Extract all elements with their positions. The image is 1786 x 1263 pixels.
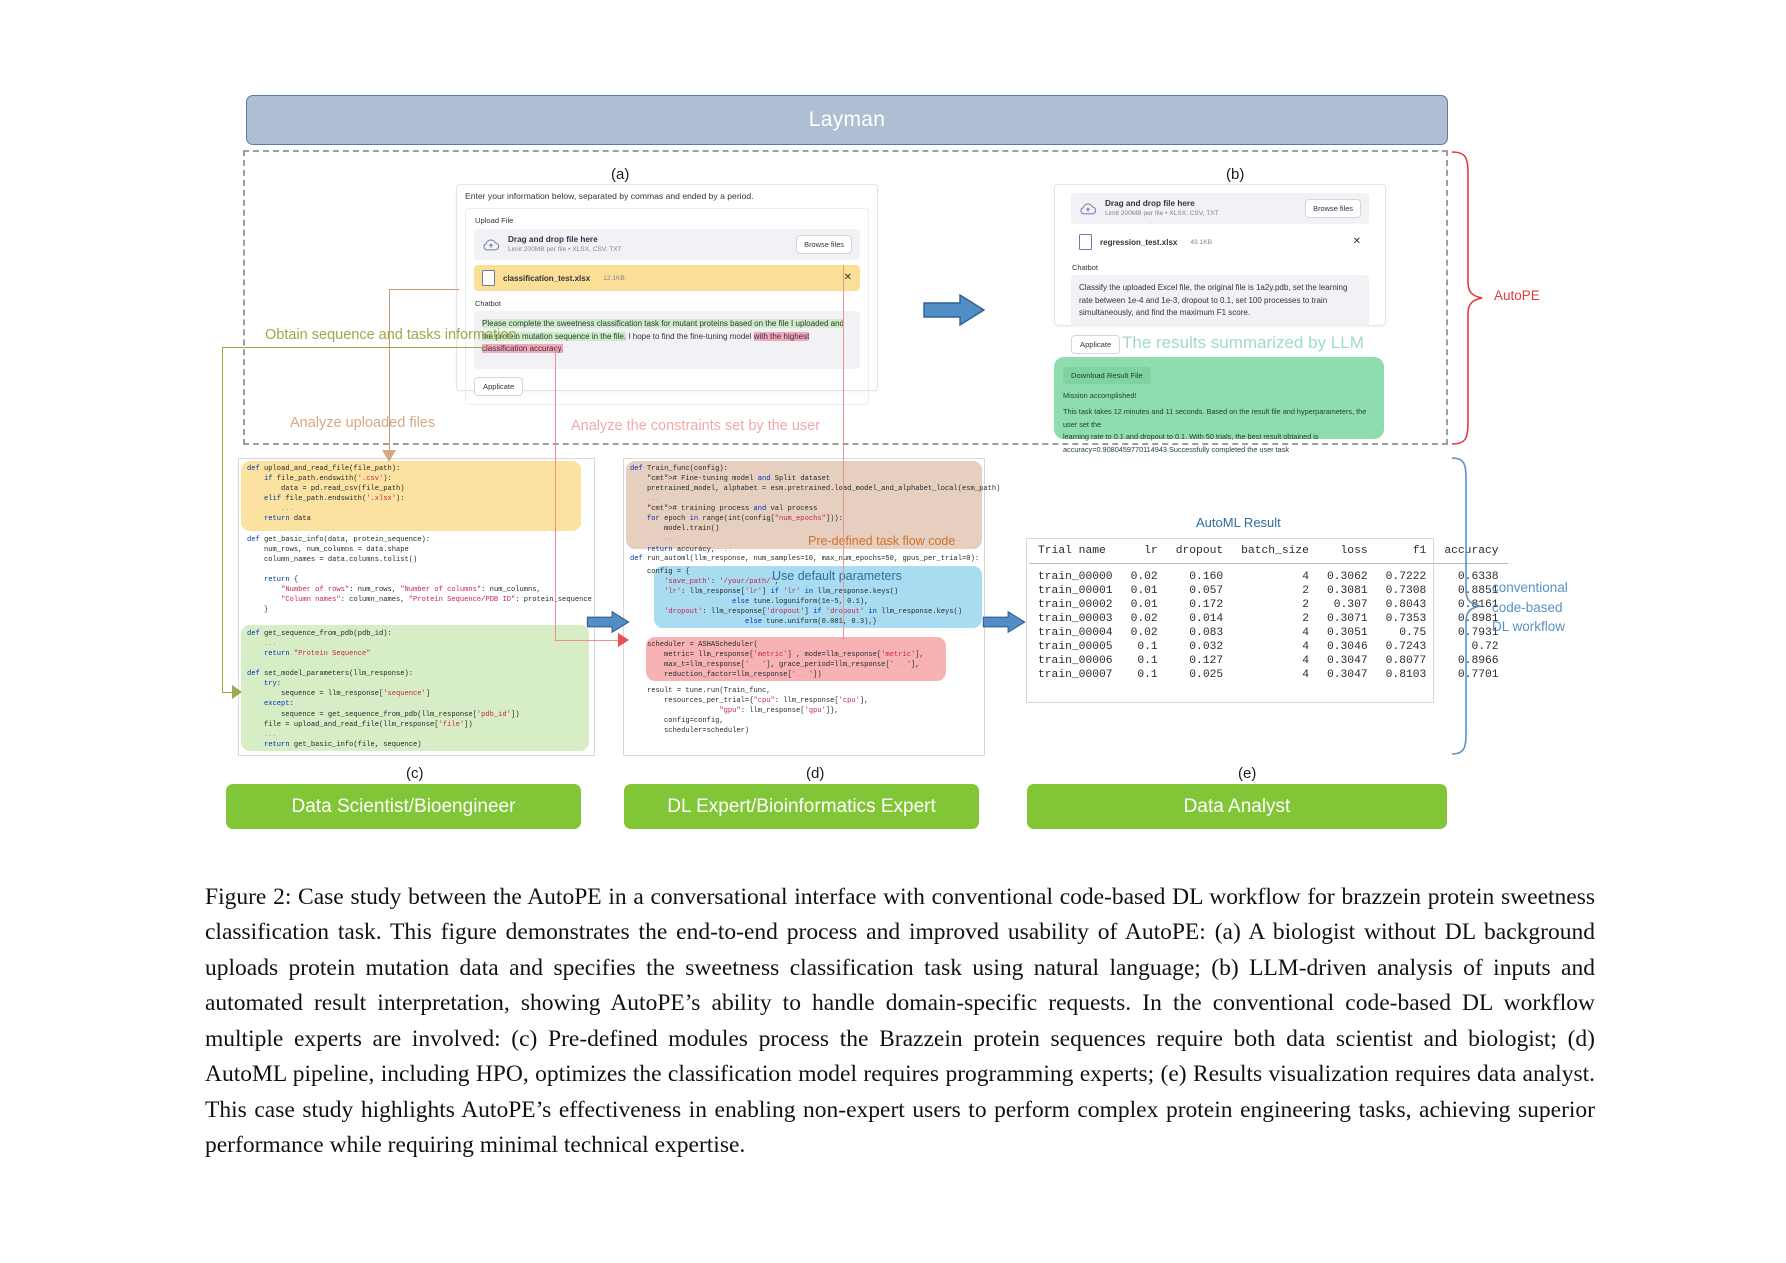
autope-bracket <box>1446 150 1486 446</box>
panel-a-chat-seg2: I hope to find the fine-tuning model <box>626 332 754 341</box>
col-dropout: dropout <box>1167 543 1232 564</box>
panel-letter-d: (d) <box>806 765 824 782</box>
table-cell: 0.1 <box>1122 640 1167 654</box>
table-cell: 0.3047 <box>1318 654 1377 668</box>
col-batch-size: batch_size <box>1232 543 1318 564</box>
table-row: train_000000.020.16040.30620.72220.6338 <box>1029 564 1508 585</box>
table-row: train_000020.010.17220.3070.80430.8161 <box>1029 598 1508 612</box>
role-bar-label-e: Data Analyst <box>1184 796 1291 818</box>
table-cell: 0.025 <box>1167 668 1232 686</box>
layman-role-bar: Layman <box>246 95 1448 145</box>
panel-a-chat-input[interactable]: Please complete the sweetness classifica… <box>474 311 860 369</box>
table-cell: 0.3047 <box>1318 668 1377 686</box>
dropzone-texts: Drag and drop file here Limit 200MB per … <box>508 235 788 254</box>
table-cell: 0.057 <box>1167 584 1232 598</box>
panel-a-uploaded-file-row[interactable]: classification_test.xlsx 12.1KB ✕ <box>474 265 860 291</box>
browse-files-button[interactable]: Browse files <box>1305 199 1361 218</box>
table-cell: 0.172 <box>1167 598 1232 612</box>
flow-arrow-d-to-e <box>982 608 1026 641</box>
panel-c-code-3: def get_sequence_from_pdb(pdb_id): ... r… <box>247 629 519 750</box>
panel-a-file-name: classification_test.xlsx <box>503 274 590 283</box>
annotation-obtain-sequence: Obtain sequence and tasks information <box>265 327 516 343</box>
role-bar-data-analyst: Data Analyst <box>1027 784 1447 829</box>
panel-b-dropzone[interactable]: Drag and drop file here Limit 200MB per … <box>1071 193 1369 224</box>
table-cell: 0.01 <box>1122 584 1167 598</box>
table-row: train_000060.10.12740.30470.80770.8966 <box>1029 654 1508 668</box>
panel-b-uploaded-file-row[interactable]: regression_test.xlsx 43.1KB ✕ <box>1071 229 1369 255</box>
connector-rose-vert <box>555 345 556 640</box>
table-cell: 4 <box>1232 640 1318 654</box>
connector-olive-vert <box>222 347 223 692</box>
role-bar-dl-expert: DL Expert/Bioinformatics Expert <box>624 784 979 829</box>
connector-tan-top <box>389 289 459 290</box>
llm-summary-watermark: The results summarized by LLM <box>1122 333 1364 353</box>
table-cell: 0.3071 <box>1318 612 1377 626</box>
panel-b-llm-result-bubble: Download Result File Mission accomplishe… <box>1054 357 1384 439</box>
table-cell: train_00001 <box>1029 584 1122 598</box>
panel-letter-b: (b) <box>1226 166 1244 183</box>
default-params-annotation: Use default parameters <box>772 569 902 583</box>
table-cell: 0.014 <box>1167 612 1232 626</box>
panel-a-chatbot-label: Chatbot <box>475 299 860 308</box>
table-cell: train_00000 <box>1029 564 1122 585</box>
connector-tan-arrowhead <box>382 450 396 462</box>
panel-b-chat-input[interactable]: Classify the uploaded Excel file, the or… <box>1071 275 1369 326</box>
panel-a-applicate-button[interactable]: Applicate <box>474 377 523 396</box>
table-cell: 0.3062 <box>1318 564 1377 585</box>
figure-caption: Figure 2: Case study between the AutoPE … <box>205 880 1595 1164</box>
table-cell: train_00006 <box>1029 654 1122 668</box>
automl-result-table-box: Trial name lr dropout batch_size loss f1… <box>1026 538 1434 703</box>
dropzone-subtitle: Limit 200MB per file • XLSX, CSV, TXT <box>1105 209 1297 218</box>
table-row: train_000070.10.02540.30470.81030.7701 <box>1029 668 1508 686</box>
table-cell: 2 <box>1232 584 1318 598</box>
panel-c-code-2: def get_basic_info(data, protein_sequenc… <box>247 535 592 616</box>
connector-olive-arrowhead <box>232 685 246 699</box>
table-cell: 0.1 <box>1122 668 1167 686</box>
layman-label: Layman <box>809 108 886 132</box>
table-cell: 2 <box>1232 598 1318 612</box>
panel-b-file-size: 43.1KB <box>1190 239 1212 246</box>
table-cell: 0.160 <box>1167 564 1232 585</box>
table-cell: 0.02 <box>1122 564 1167 585</box>
table-cell: 0.7353 <box>1377 612 1436 626</box>
table-cell: 4 <box>1232 564 1318 585</box>
panel-c-code-1: def upload_and_read_file(file_path): if … <box>247 464 405 524</box>
dropzone-title: Drag and drop file here <box>1105 199 1297 209</box>
table-row: train_000040.020.08340.30510.750.7931 <box>1029 626 1508 640</box>
panel-d-code-5: result = tune.run(Train_func, resources_… <box>630 686 868 736</box>
table-cell: 4 <box>1232 668 1318 686</box>
table-cell: train_00005 <box>1029 640 1122 654</box>
annotation-analyze-files: Analyze uploaded files <box>290 415 435 431</box>
file-icon <box>482 270 495 286</box>
flow-arrow-a-to-b <box>922 293 986 332</box>
panel-d-code-2: def run_automl(llm_response, num_samples… <box>630 554 979 564</box>
table-header-row: Trial name lr dropout batch_size loss f1… <box>1029 543 1508 564</box>
table-cell: 0.3081 <box>1318 584 1377 598</box>
table-cell: 0.3051 <box>1318 626 1377 640</box>
col-trial-name: Trial name <box>1029 543 1122 564</box>
panel-a-file-size: 12.1KB <box>603 275 625 282</box>
automl-result-table: Trial name lr dropout batch_size loss f1… <box>1029 543 1508 686</box>
table-cell: 0.8103 <box>1377 668 1436 686</box>
conventional-line-3: DL workflow <box>1492 617 1568 637</box>
table-cell: 0.75 <box>1377 626 1436 640</box>
panel-d-code-4: scheduler = ASHAScheduler( metric= llm_r… <box>630 640 924 680</box>
role-bar-label-c: Data Scientist/Bioengineer <box>292 796 516 818</box>
table-cell: 0.02 <box>1122 612 1167 626</box>
panel-c-code-card: def upload_and_read_file(file_path): if … <box>238 458 595 756</box>
col-lr: lr <box>1122 543 1167 564</box>
table-row: train_000010.010.05720.30810.73080.8851 <box>1029 584 1508 598</box>
table-cell: train_00002 <box>1029 598 1122 612</box>
dropzone-title: Drag and drop file here <box>508 235 788 245</box>
table-cell: 0.083 <box>1167 626 1232 640</box>
panel-a-app-card: Enter your information below, separated … <box>456 184 878 391</box>
table-cell: 4 <box>1232 626 1318 640</box>
connector-red-vert <box>843 265 844 640</box>
table-cell: 0.02 <box>1122 626 1167 640</box>
remove-file-icon[interactable]: ✕ <box>1353 237 1361 247</box>
table-cell: 4 <box>1232 654 1318 668</box>
result-line-3: learning rate to 0.1 and dropout to 0.1.… <box>1063 431 1375 443</box>
upload-file-label: Upload File <box>475 216 860 225</box>
table-row: train_000050.10.03240.30460.72430.72 <box>1029 640 1508 654</box>
table-cell: train_00004 <box>1029 626 1122 640</box>
table-cell: 0.8043 <box>1377 598 1436 612</box>
browse-files-button[interactable]: Browse files <box>796 235 852 254</box>
table-cell: 0.8077 <box>1377 654 1436 668</box>
table-cell: train_00007 <box>1029 668 1122 686</box>
conventional-line-2: code-based <box>1492 598 1568 618</box>
file-icon <box>1079 234 1092 250</box>
role-bar-label-d: DL Expert/Bioinformatics Expert <box>667 796 936 818</box>
panel-a-dropzone[interactable]: Drag and drop file here Limit 200MB per … <box>474 229 860 260</box>
panel-b-file-name: regression_test.xlsx <box>1100 238 1177 247</box>
result-line-4: accuracy=0.9080459770114943 Successfully… <box>1063 444 1375 456</box>
table-cell: 2 <box>1232 612 1318 626</box>
panel-d-code-card: def Train_func(config): "cmt"># Fine-tun… <box>623 458 985 756</box>
conventional-bracket <box>1446 456 1486 756</box>
panel-a-inner-card: Upload File Drag and drop file here Limi… <box>465 208 869 405</box>
role-bar-data-scientist: Data Scientist/Bioengineer <box>226 784 581 829</box>
remove-file-icon[interactable]: ✕ <box>844 273 852 283</box>
dropzone-subtitle: Limit 200MB per file • XLSX, CSV, TXT <box>508 245 788 254</box>
figure-2-graphic: Layman (a) (b) (c) (d) (e) Enter your in… <box>0 0 1786 855</box>
result-line-1: Mission accomplished! <box>1063 390 1375 402</box>
panel-a-hint: Enter your information below, separated … <box>457 185 877 203</box>
panel-letter-e: (e) <box>1238 765 1256 782</box>
table-cell: 0.307 <box>1318 598 1377 612</box>
panel-b-app-card: Drag and drop file here Limit 200MB per … <box>1054 184 1386 326</box>
table-cell: 0.3046 <box>1318 640 1377 654</box>
table-cell: 0.7308 <box>1377 584 1436 598</box>
cloud-upload-icon <box>1079 202 1097 216</box>
autope-bracket-label: AutoPE <box>1494 288 1540 303</box>
cloud-upload-icon <box>482 238 500 252</box>
col-loss: loss <box>1318 543 1377 564</box>
table-cell: 0.127 <box>1167 654 1232 668</box>
automl-result-title: AutoML Result <box>1196 515 1281 530</box>
dropzone-texts: Drag and drop file here Limit 200MB per … <box>1105 199 1297 218</box>
conventional-bracket-label: conventional code-based DL workflow <box>1492 578 1568 637</box>
table-cell: train_00003 <box>1029 612 1122 626</box>
table-cell: 0.01 <box>1122 598 1167 612</box>
table-cell: 0.032 <box>1167 640 1232 654</box>
table-row: train_000030.020.01420.30710.73530.8981 <box>1029 612 1508 626</box>
annotation-analyze-constraints: Analyze the constraints set by the user <box>571 418 820 434</box>
panel-letter-a: (a) <box>611 166 629 183</box>
connector-tan-vert <box>389 289 390 456</box>
predefined-flow-annotation: Pre-defined task flow code <box>808 534 955 548</box>
col-f1: f1 <box>1377 543 1436 564</box>
conventional-line-1: conventional <box>1492 578 1568 598</box>
panel-b-chatbot-label: Chatbot <box>1072 263 1369 272</box>
panel-letter-c: (c) <box>406 765 424 782</box>
table-cell: 0.1 <box>1122 654 1167 668</box>
result-line-2: This task takes 12 minutes and 11 second… <box>1063 406 1375 431</box>
connector-olive-top <box>222 347 487 348</box>
table-cell: 0.7243 <box>1377 640 1436 654</box>
table-cell: 0.7222 <box>1377 564 1436 585</box>
download-result-file-button[interactable]: Download Result File <box>1063 367 1151 384</box>
panel-b-applicate-button[interactable]: Applicate <box>1071 335 1120 354</box>
